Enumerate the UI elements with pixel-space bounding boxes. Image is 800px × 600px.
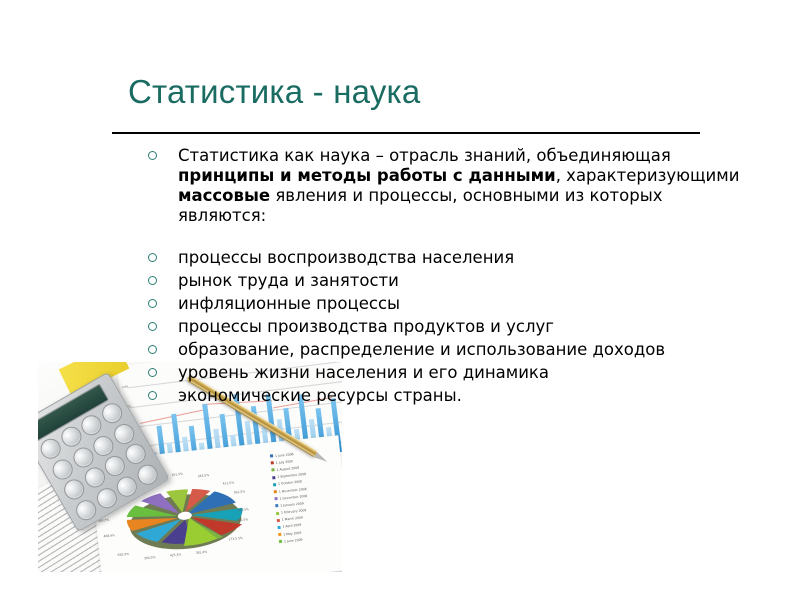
list-item-label: экономические ресурсы страны. [178, 386, 462, 405]
hollow-circle-bullet-icon [148, 276, 157, 285]
hollow-circle-bullet-icon [148, 368, 157, 377]
calculator-key [38, 435, 64, 462]
intro-text: Статистика как наука – отрасль знаний, о… [178, 146, 671, 165]
hollow-circle-bullet-icon [148, 151, 157, 160]
page-title: Статистика - наука [128, 72, 728, 112]
intro-emphasis: массовые [178, 186, 270, 205]
intro-bullet: Статистика как наука – отрасль знаний, о… [146, 146, 746, 226]
hollow-circle-bullet-icon [148, 299, 157, 308]
list-item: образование, распределение и использован… [146, 338, 746, 361]
list-item: процессы производства продуктов и услуг [146, 315, 746, 338]
list-item-label: процессы воспроизводства населения [178, 248, 514, 267]
slide-body: Статистика как наука – отрасль знаний, о… [146, 146, 746, 407]
intro-text: , характеризующими [556, 166, 740, 185]
list-item-label: инфляционные процессы [178, 294, 400, 313]
hollow-circle-bullet-icon [148, 345, 157, 354]
list-item: уровень жизни населения и его динамика [146, 361, 746, 384]
calculator-key [61, 476, 88, 503]
calculator-key [101, 452, 128, 479]
hollow-circle-bullet-icon [148, 322, 157, 331]
hollow-circle-bullet-icon [148, 253, 157, 262]
bullet-list: процессы воспроизводства населения рынок… [146, 246, 746, 407]
list-item: экономические ресурсы страны. [146, 384, 746, 407]
hollow-circle-bullet-icon [148, 391, 157, 400]
calculator-key [72, 496, 99, 523]
title-divider [112, 132, 700, 134]
list-item-label: рынок труда и занятости [178, 271, 399, 290]
calculator-key [133, 461, 160, 488]
slide-canvas: 1200 1000 800 600 400 [0, 0, 800, 600]
intro-paragraph: Статистика как наука – отрасль знаний, о… [178, 146, 746, 226]
list-item: инфляционные процессы [146, 292, 746, 315]
list-item-label: уровень жизни населения и его динамика [178, 363, 549, 382]
list-item: рынок труда и занятости [146, 269, 746, 292]
list-item-label: процессы производства продуктов и услуг [178, 317, 554, 336]
pie-chart-legend: 1 June 2008 1 July 2008 1 August 2008 1 … [270, 446, 341, 545]
list-item-label: образование, распределение и использован… [178, 340, 665, 359]
intro-emphasis: принципы и методы работы с данными [178, 166, 556, 185]
list-item: процессы воспроизводства населения [146, 246, 746, 269]
